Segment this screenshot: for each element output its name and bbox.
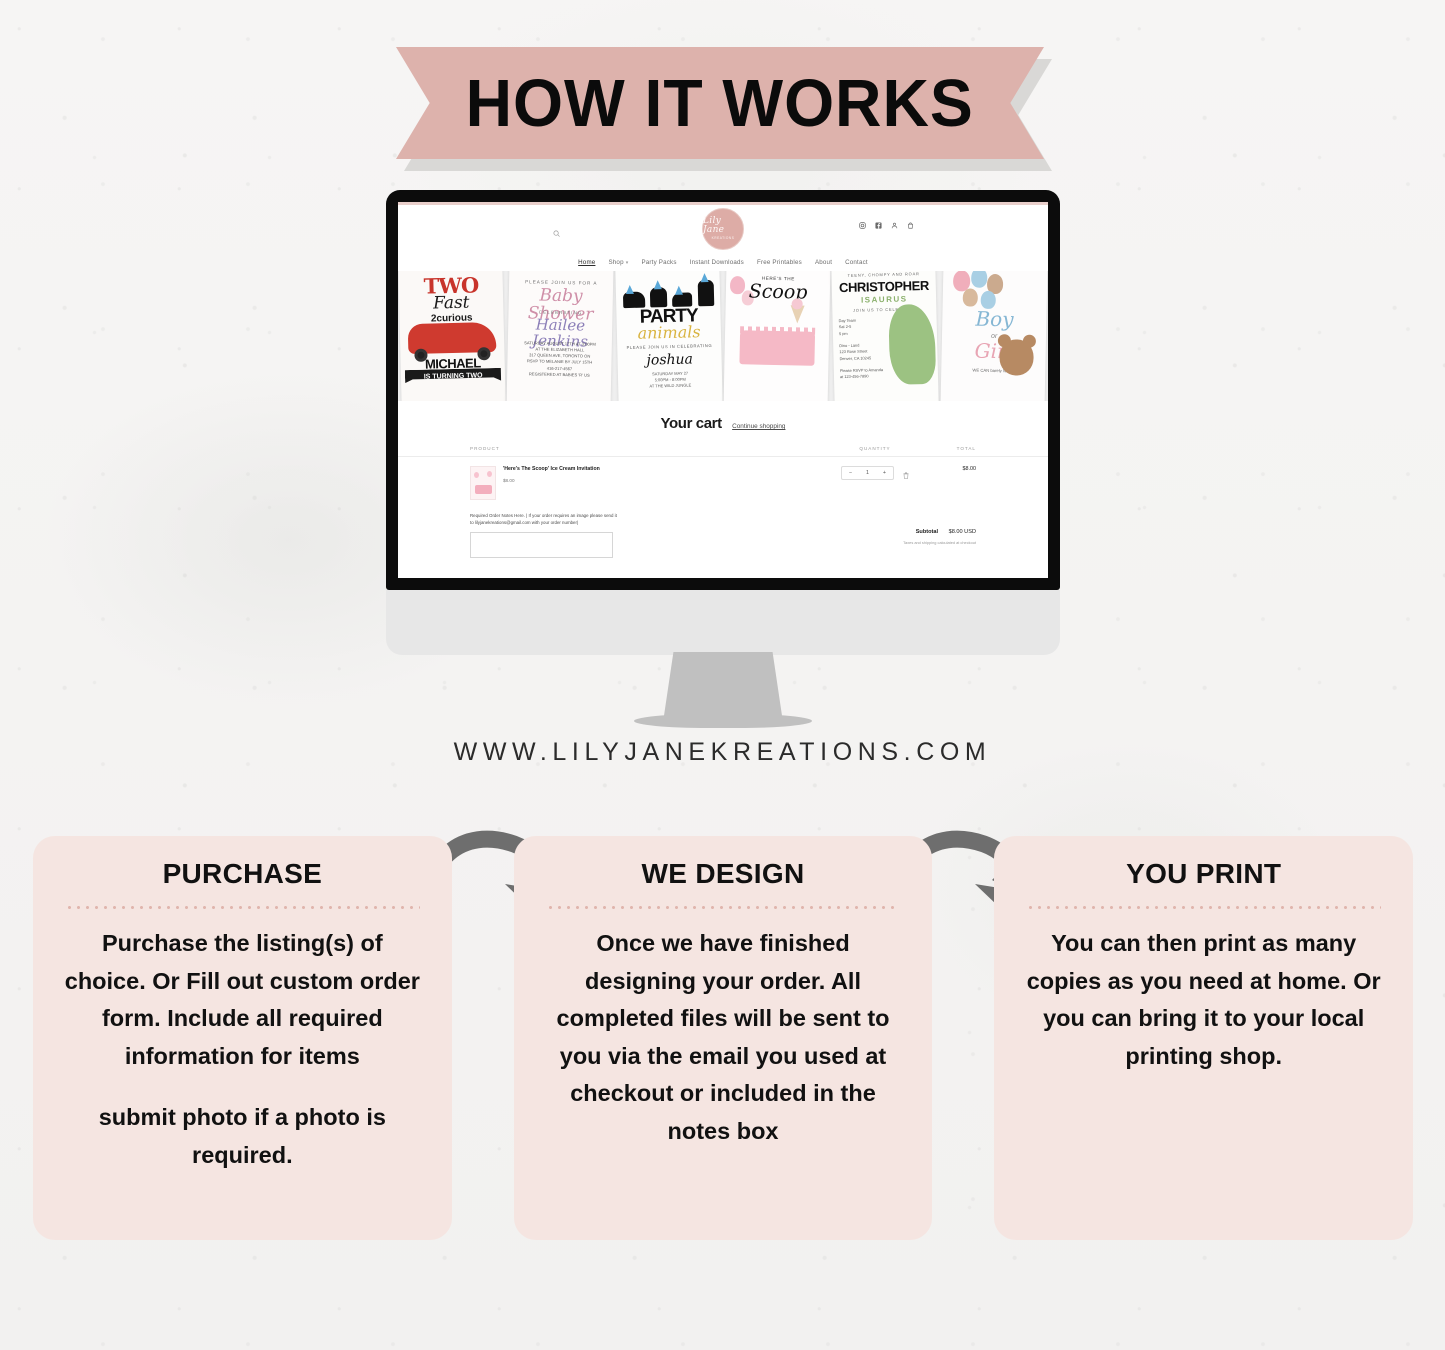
nav-item-home[interactable]: Home xyxy=(578,259,595,266)
teddy-bear-graphic xyxy=(999,339,1034,376)
column-header-quantity: QUANTITY xyxy=(832,446,918,451)
step-body-you-print: You can then print as many copies as you… xyxy=(1020,925,1387,1075)
order-notes-section: Required Order Notes Here. | If your ord… xyxy=(470,513,620,558)
step-body-we-design: Once we have finished designing your ord… xyxy=(540,925,907,1151)
inv1-turning: IS TURNING TWO xyxy=(401,372,505,382)
quantity-increase-button[interactable]: + xyxy=(876,470,893,476)
step-body2-purchase: submit photo if a photo is required. xyxy=(59,1099,426,1174)
inv2-details: SATURDAY AUGUST 17TH AT 3:00PM AT THE EL… xyxy=(507,340,612,379)
cart-page: Your cart Continue shopping PRODUCT QUAN… xyxy=(398,401,1048,564)
chevron-down-icon: ▾ xyxy=(626,260,629,266)
nav-item-free-printables[interactable]: Free Printables xyxy=(757,259,802,266)
banner-ribbon: HOW IT WORKS xyxy=(396,47,1044,159)
step-title-we-design: WE DESIGN xyxy=(540,858,907,890)
invitation-card-race-car[interactable]: TWO Fast 2curious MICHAEL IS TURNING TWO xyxy=(398,271,506,401)
product-price: $8.00 xyxy=(503,478,832,483)
search-icon[interactable] xyxy=(553,224,560,242)
inv5-saurus: ISAURUS xyxy=(832,295,937,306)
inv1-name: MICHAEL xyxy=(401,356,506,372)
instagram-icon[interactable] xyxy=(859,222,866,229)
nav-item-contact[interactable]: Contact xyxy=(845,259,868,266)
cart-header: Your cart Continue shopping xyxy=(398,401,1048,433)
how-it-works-banner: HOW IT WORKS xyxy=(396,47,1044,159)
product-info: 'Here's The Scoop' Ice Cream Invitation … xyxy=(496,466,832,483)
inv3-details: SATURDAY MAY 27 5:00PM - 8:00PM AT THE W… xyxy=(618,370,723,391)
thumbnail-truck xyxy=(475,485,492,494)
monitor-chin xyxy=(386,590,1060,655)
line-item-total: $8.00 xyxy=(918,466,976,472)
inv3-animals: animals xyxy=(616,324,721,343)
facebook-icon[interactable] xyxy=(875,222,882,229)
inv3-name: joshua xyxy=(617,352,722,369)
site-nav: Home Shop▾ Party Packs Instant Downloads… xyxy=(398,253,1048,271)
site-logo[interactable]: Lily Jane KREATIONS xyxy=(702,208,744,250)
page-title: HOW IT WORKS xyxy=(466,70,974,137)
tax-note: Taxes and shipping calculated at checkou… xyxy=(903,540,976,545)
order-notes-label: Required Order Notes Here. | If your ord… xyxy=(470,513,620,527)
step-card-we-design: WE DESIGN Once we have finished designin… xyxy=(514,836,933,1240)
nav-item-party-packs[interactable]: Party Packs xyxy=(641,259,676,266)
trash-icon[interactable] xyxy=(903,466,909,484)
monitor-stand-base xyxy=(634,714,812,728)
invitation-card-dinosaur[interactable]: TEENY, CHOMPY AND ROAR CHRISTOPHER ISAUR… xyxy=(832,271,940,401)
invitation-card-gender-reveal[interactable]: Boy or Girl WE CAN barely WAIT! xyxy=(940,271,1047,401)
column-header-total: TOTAL xyxy=(918,446,976,451)
step-title-purchase: PURCHASE xyxy=(59,858,426,890)
step-title-you-print: YOU PRINT xyxy=(1020,858,1387,890)
nav-item-instant-downloads[interactable]: Instant Downloads xyxy=(690,259,744,266)
cart-column-headers: PRODUCT QUANTITY TOTAL xyxy=(398,433,1048,457)
inv6-boy: Boy xyxy=(942,308,1047,331)
inv5-name: CHRISTOPHER xyxy=(832,279,937,295)
website-screen: Lily Jane KREATIONS xyxy=(398,202,1048,578)
subtotal-label: Subtotal xyxy=(916,529,938,535)
dotted-divider xyxy=(65,906,420,909)
cart-icon[interactable] xyxy=(907,222,914,229)
step-card-purchase: PURCHASE Purchase the listing(s) of choi… xyxy=(33,836,452,1240)
subtotal-line: Subtotal $8.00 USD xyxy=(903,529,976,535)
quantity-decrease-button[interactable]: − xyxy=(842,470,859,476)
continue-shopping-link[interactable]: Continue shopping xyxy=(732,423,785,430)
nav-item-about[interactable]: About xyxy=(815,259,832,266)
site-header: Lily Jane KREATIONS xyxy=(398,205,1048,253)
quantity-value[interactable]: 1 xyxy=(859,470,876,476)
cart-line-item: 'Here's The Scoop' Ice Cream Invitation … xyxy=(398,457,1048,500)
monitor-mockup: Lily Jane KREATIONS xyxy=(386,190,1060,700)
header-icon-group xyxy=(859,222,914,229)
order-notes-input[interactable] xyxy=(470,532,613,558)
column-header-product: PRODUCT xyxy=(470,446,832,451)
nav-item-shop[interactable]: Shop▾ xyxy=(608,259,628,266)
inv1-fast: Fast xyxy=(399,294,504,314)
step-card-you-print: YOU PRINT You can then print as many cop… xyxy=(994,836,1413,1240)
invitation-card-baby-shower[interactable]: PLEASE JOIN US FOR A Baby Shower CELEBRA… xyxy=(507,271,614,401)
dotted-divider xyxy=(1026,906,1381,909)
invitation-card-party-animals[interactable]: PARTY animals PLEASE JOIN US IN CELEBRAT… xyxy=(615,271,723,401)
quantity-stepper-box: − 1 + xyxy=(841,466,894,480)
ice-cream-truck-graphic xyxy=(739,330,815,366)
subtotal-section: Subtotal $8.00 USD Taxes and shipping ca… xyxy=(903,513,976,558)
animal-silhouettes xyxy=(619,272,716,308)
quantity-stepper: − 1 + xyxy=(832,466,918,484)
logo-name: Lily Jane xyxy=(703,217,743,235)
website-url: WWW.LILYJANEKREATIONS.COM xyxy=(0,738,1445,767)
product-name[interactable]: 'Here's The Scoop' Ice Cream Invitation xyxy=(503,466,613,474)
logo-tagline: KREATIONS xyxy=(712,237,735,240)
step-body-purchase: Purchase the listing(s) of choice. Or Fi… xyxy=(59,925,426,1075)
race-car-graphic xyxy=(408,322,496,354)
invitation-card-ice-cream[interactable]: HERE'S THE Scoop xyxy=(724,271,831,401)
monitor-bezel: Lily Jane KREATIONS xyxy=(386,190,1060,590)
hero-product-strip: TWO Fast 2curious MICHAEL IS TURNING TWO… xyxy=(398,271,1048,401)
subtotal-value: $8.00 USD xyxy=(949,529,976,535)
inv3-please: PLEASE JOIN US IN CELEBRATING xyxy=(617,344,721,351)
inv4-scoop: Scoop xyxy=(726,282,831,304)
account-icon[interactable] xyxy=(891,222,898,229)
steps-row: PURCHASE Purchase the listing(s) of choi… xyxy=(33,836,1413,1240)
product-thumbnail[interactable] xyxy=(470,466,496,500)
cart-title: Your cart xyxy=(661,415,722,432)
cart-footer: Required Order Notes Here. | If your ord… xyxy=(398,500,1048,558)
dotted-divider xyxy=(546,906,901,909)
